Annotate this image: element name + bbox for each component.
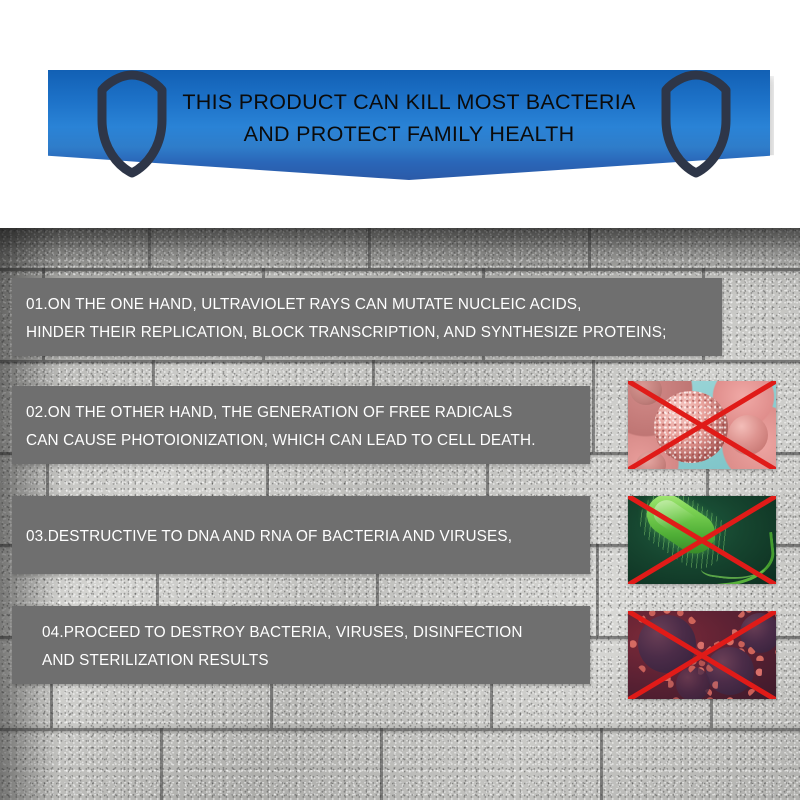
virus-particle <box>638 615 696 673</box>
feature-bar-02-line-1: 02.ON THE OTHER HAND, THE GENERATION OF … <box>26 399 590 427</box>
bacteria-cell-main <box>654 391 728 463</box>
banner-headline: THIS PRODUCT CAN KILL MOST BACTERIA AND … <box>48 86 770 150</box>
bacteria-cell-small <box>728 415 768 455</box>
feature-bar-02-line-2: CAN CAUSE PHOTOIONIZATION, WHICH CAN LEA… <box>26 427 590 455</box>
bacteria-illustration <box>628 381 776 469</box>
wall-joint-vertical <box>368 228 371 268</box>
feature-bar-03-line-1: 03.DESTRUCTIVE TO DNA AND RNA OF BACTERI… <box>26 523 590 551</box>
feature-bar-04-line-2: AND STERILIZATION RESULTS <box>42 647 590 675</box>
wall-joint-vertical <box>588 228 591 268</box>
feature-bar-02: 02.ON THE OTHER HAND, THE GENERATION OF … <box>12 386 590 464</box>
main-section: 01.ON THE ONE HAND, ULTRAVIOLET RAYS CAN… <box>0 228 800 800</box>
wall-joint-vertical <box>596 544 599 636</box>
virus-particles-photo <box>628 611 776 699</box>
virus-illustration <box>628 611 776 699</box>
spherical-bacteria-photo <box>628 381 776 469</box>
infographic-page: THIS PRODUCT CAN KILL MOST BACTERIA AND … <box>0 0 800 800</box>
header-section: THIS PRODUCT CAN KILL MOST BACTERIA AND … <box>0 0 800 215</box>
wall-joint-vertical <box>380 728 383 800</box>
banner-headline-line-1: THIS PRODUCT CAN KILL MOST BACTERIA <box>48 86 770 118</box>
wall-joint-vertical <box>148 228 151 268</box>
wall-joint-vertical <box>592 360 595 452</box>
feature-bar-01-line-2: HINDER THEIR REPLICATION, BLOCK TRANSCRI… <box>26 319 722 347</box>
bacteria-cell-small <box>630 381 662 405</box>
wall-joint-vertical <box>600 728 603 800</box>
rod-bacterium-photo <box>628 496 776 584</box>
feature-bar-01: 01.ON THE ONE HAND, ULTRAVIOLET RAYS CAN… <box>12 278 722 356</box>
wall-joint-vertical <box>160 728 163 800</box>
wall-joint-horizontal <box>0 728 800 731</box>
banner: THIS PRODUCT CAN KILL MOST BACTERIA AND … <box>48 70 770 182</box>
wall-joint-horizontal <box>0 268 800 271</box>
feature-bar-04-line-1: 04.PROCEED TO DESTROY BACTERIA, VIRUSES,… <box>42 619 590 647</box>
feature-bar-01-line-1: 01.ON THE ONE HAND, ULTRAVIOLET RAYS CAN… <box>26 291 722 319</box>
bacterium-illustration <box>628 496 776 584</box>
bacteria-cell-small <box>636 451 666 469</box>
banner-headline-line-2: AND PROTECT FAMILY HEALTH <box>48 118 770 150</box>
feature-bar-03: 03.DESTRUCTIVE TO DNA AND RNA OF BACTERI… <box>12 496 590 574</box>
wall-joint-horizontal <box>0 360 800 363</box>
feature-bar-04: 04.PROCEED TO DESTROY BACTERIA, VIRUSES,… <box>12 606 590 684</box>
